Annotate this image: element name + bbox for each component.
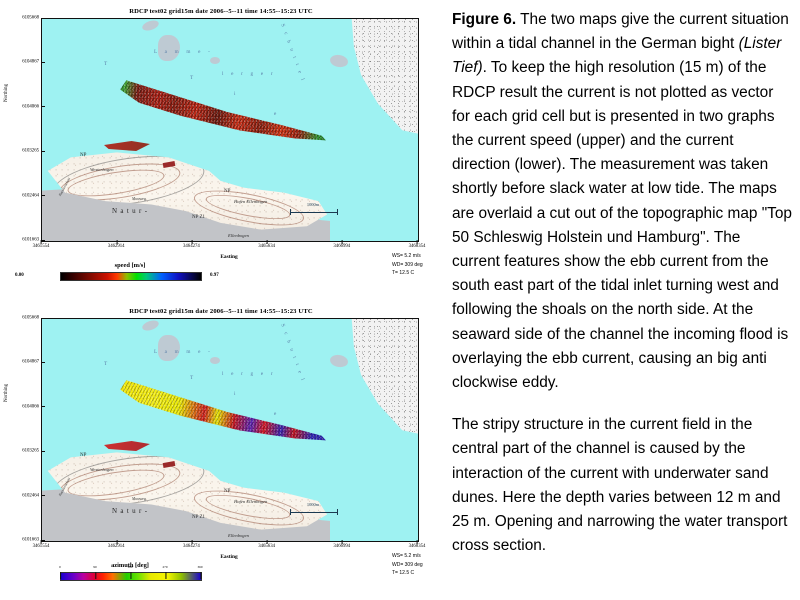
y-tick-label: 6104066 bbox=[22, 104, 39, 109]
colorbar-tick-label: 360 bbox=[197, 565, 202, 569]
y-tick-label: 6101663 bbox=[22, 538, 39, 543]
sea-label-lerger: l e r g e r bbox=[222, 71, 276, 77]
y-tick-label: 6104867 bbox=[22, 60, 39, 65]
colorbar-title-speed: speed [m/s] bbox=[60, 262, 200, 269]
map-label-natur: N a t u r - bbox=[112, 507, 148, 515]
wind-speed-reading: WS= 5.2 m/s bbox=[392, 552, 423, 561]
figure-page: RDCP test02 grid15m date 2006--5--11 tim… bbox=[0, 0, 800, 600]
caption-paragraph-1: Figure 6. The two maps give the current … bbox=[452, 8, 792, 395]
x-tick-label: 3465634 bbox=[258, 244, 275, 249]
y-axis-label-azimuth: Northing bbox=[4, 384, 9, 402]
map-label-moorweg: Moorweg bbox=[132, 197, 146, 201]
map-label-westerbogen: Westerbogen bbox=[90, 467, 114, 472]
x-tick-label: 3464274 bbox=[183, 544, 200, 549]
sea-label-lamme: L a m m e - bbox=[154, 49, 213, 55]
azimuth-colorbar-block: azimuth [deg] 0 90 180 270 360 bbox=[0, 562, 442, 598]
x-tick-label: 3468354 bbox=[409, 244, 426, 249]
x-tick-label: 3462914 bbox=[108, 544, 125, 549]
colorbar-max-label-speed: 0.97 bbox=[210, 273, 219, 278]
colorbar-speed bbox=[60, 272, 202, 281]
y-tick-label: 6101663 bbox=[22, 238, 39, 243]
map-label-np-z1: NP Z1 bbox=[192, 515, 205, 520]
sea-label-lamme: L a m m e - bbox=[154, 349, 213, 355]
y-tick-label: 6102464 bbox=[22, 193, 39, 198]
scalebar-label-speed: 1000m bbox=[290, 202, 336, 207]
topographic-island bbox=[41, 447, 330, 542]
map-title-azimuth: RDCP test02 grid15m date 2006--5--11 tim… bbox=[0, 308, 442, 315]
x-tick-label: 3461554 bbox=[33, 544, 50, 549]
sea-label-t-east: T bbox=[190, 375, 193, 381]
map-label-np-mid: NP bbox=[224, 189, 230, 194]
figure-caption: Figure 6. The two maps give the current … bbox=[452, 8, 792, 576]
x-tick-label: 3466994 bbox=[333, 244, 350, 249]
sea-label-t-west: T bbox=[104, 361, 107, 367]
colorbar-tick-label: 180 bbox=[127, 565, 132, 569]
x-tick-label: 3466994 bbox=[333, 544, 350, 549]
wind-speed-reading: WS= 5.2 m/s bbox=[392, 252, 423, 261]
sea-label-i: i bbox=[234, 391, 235, 397]
y-tick-label: 6104066 bbox=[22, 404, 39, 409]
figure-column: RDCP test02 grid15m date 2006--5--11 tim… bbox=[0, 0, 442, 600]
map-label-ellenbogen: Ellenbogen bbox=[228, 233, 249, 238]
x-tick-label: 3468354 bbox=[409, 544, 426, 549]
x-axis-label-azimuth: Easting bbox=[41, 554, 417, 560]
sea-label-t-west: T bbox=[104, 61, 107, 67]
y-tick-label: 6105668 bbox=[22, 16, 39, 21]
y-tick-label: 6102464 bbox=[22, 493, 39, 498]
map-label-moorweg: Moorweg bbox=[132, 497, 146, 501]
sandbank bbox=[210, 57, 220, 64]
colorbar-tick-label: 0 bbox=[59, 565, 61, 569]
x-tick-label: 3464274 bbox=[183, 244, 200, 249]
x-tick-label: 3465634 bbox=[258, 544, 275, 549]
y-tick-label: 6103265 bbox=[22, 449, 39, 454]
sandbank bbox=[210, 357, 220, 364]
map-label-ellenbogen: Ellenbogen bbox=[228, 533, 249, 538]
x-axis-label-speed: Easting bbox=[41, 254, 417, 260]
sea-label-t-east: T bbox=[190, 75, 193, 81]
sea-label-lerger: l e r g e r bbox=[222, 371, 276, 377]
colorbar-min-label-speed: 0.00 bbox=[15, 273, 24, 278]
map-label-natur: N a t u r - bbox=[112, 207, 148, 215]
sea-label-i: i bbox=[234, 91, 235, 97]
map-title-speed: RDCP test02 grid15m date 2006--5--11 tim… bbox=[0, 8, 442, 15]
caption-paragraph-2: The stripy structure in the current fiel… bbox=[452, 413, 792, 558]
x-tick-label: 3462914 bbox=[108, 244, 125, 249]
sea-label-e: e bbox=[274, 411, 276, 417]
colorbar-tick-label: 270 bbox=[162, 565, 167, 569]
azimuth-plot-frame: Westerbogen N a t u r - Moorweg Hafen El… bbox=[41, 318, 419, 542]
map-label-np-mid: NP bbox=[224, 489, 230, 494]
figure-label: Figure 6. bbox=[452, 11, 516, 28]
map-label-np-north: NP bbox=[80, 153, 86, 158]
y-tick-label: 6105668 bbox=[22, 316, 39, 321]
map-label-np-north: NP bbox=[80, 453, 86, 458]
x-tick-label: 3461554 bbox=[33, 244, 50, 249]
map-label-np-z1: NP Z1 bbox=[192, 215, 205, 220]
map-label-westerbogen: Westerbogen bbox=[90, 167, 114, 172]
azimuth-map-panel: RDCP test02 grid15m date 2006--5--11 tim… bbox=[0, 300, 442, 600]
y-tick-label: 6103265 bbox=[22, 149, 39, 154]
sea-label-e: e bbox=[274, 111, 276, 117]
map-label-hafen-ellenbogen: Hafen Ellenbogen bbox=[234, 199, 267, 204]
speed-map-panel: RDCP test02 grid15m date 2006--5--11 tim… bbox=[0, 0, 442, 300]
speed-plot-frame: Westerbogen N a t u r - Moorweg Hafen El… bbox=[41, 18, 419, 242]
caption-text-b: . To keep the high resolution (15 m) of … bbox=[452, 59, 792, 391]
map-label-hafen-ellenbogen: Hafen Ellenbogen bbox=[234, 499, 267, 504]
scalebar-azimuth bbox=[290, 509, 338, 515]
y-axis-label-speed: Northing bbox=[4, 84, 9, 102]
y-tick-label: 6104867 bbox=[22, 360, 39, 365]
colorbar-azimuth bbox=[60, 572, 202, 581]
topographic-island bbox=[41, 147, 330, 242]
scalebar-label-azimuth: 1000m bbox=[290, 502, 336, 507]
colorbar-tick-label: 90 bbox=[93, 565, 96, 569]
speed-colorbar-block: speed [m/s] 0.00 0.97 bbox=[0, 262, 442, 298]
scalebar-speed bbox=[290, 209, 338, 215]
